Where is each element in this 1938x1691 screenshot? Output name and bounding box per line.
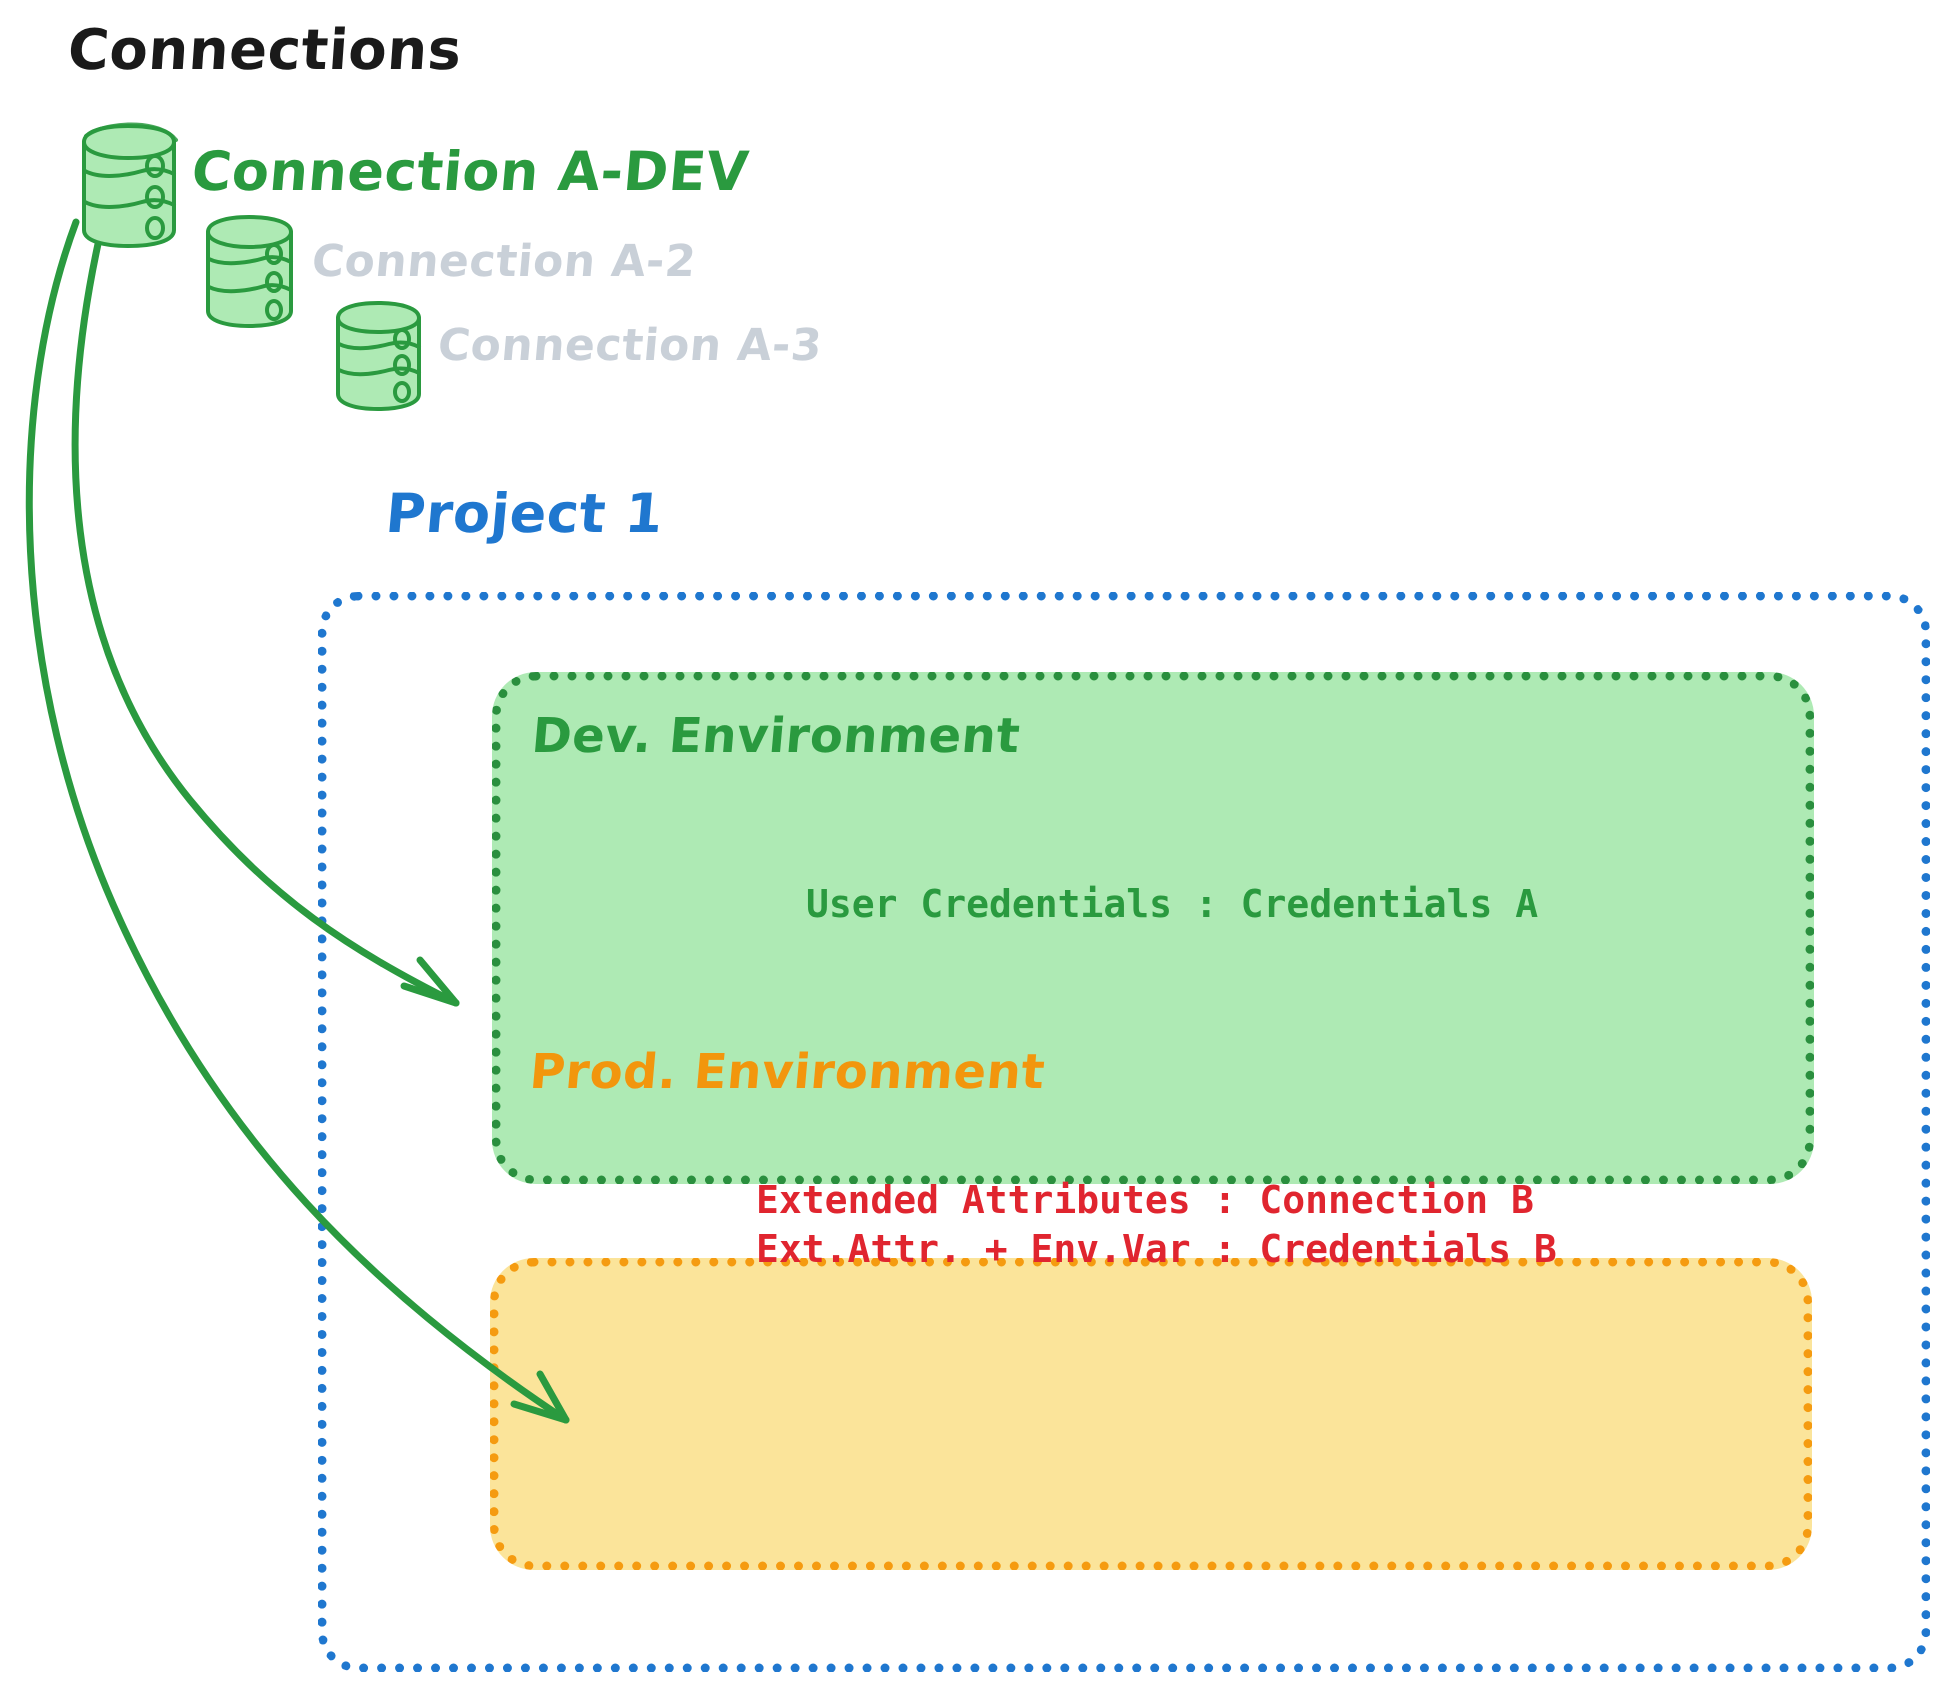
prod-ext-attr-env-var-line: Ext.Attr. + Env.Var : Credentials B	[756, 1225, 1557, 1274]
database-icon-connection-a-2[interactable]	[196, 210, 306, 332]
prod-environment-title: Prod. Environment	[528, 1044, 1048, 1100]
database-icon-connection-a-dev[interactable]	[70, 118, 190, 253]
project-title: Project 1	[383, 482, 666, 545]
diagram-canvas: Connections	[0, 0, 1938, 1691]
prod-extended-attributes-line: Extended Attributes : Connection B	[756, 1176, 1557, 1225]
connection-label-a-dev: Connection A-DEV	[189, 140, 751, 203]
dev-environment-title: Dev. Environment	[530, 708, 1023, 764]
database-icon-connection-a-3[interactable]	[326, 296, 434, 414]
connection-label-a-2: Connection A-2	[310, 236, 698, 287]
dev-user-credentials-line: User Credentials : Credentials A	[806, 882, 1538, 926]
prod-attribute-lines: Extended Attributes : Connection B Ext.A…	[756, 1176, 1557, 1273]
page-title: Connections	[66, 18, 464, 83]
prod-environment-container	[490, 1258, 1812, 1570]
connection-label-a-3: Connection A-3	[436, 320, 824, 371]
